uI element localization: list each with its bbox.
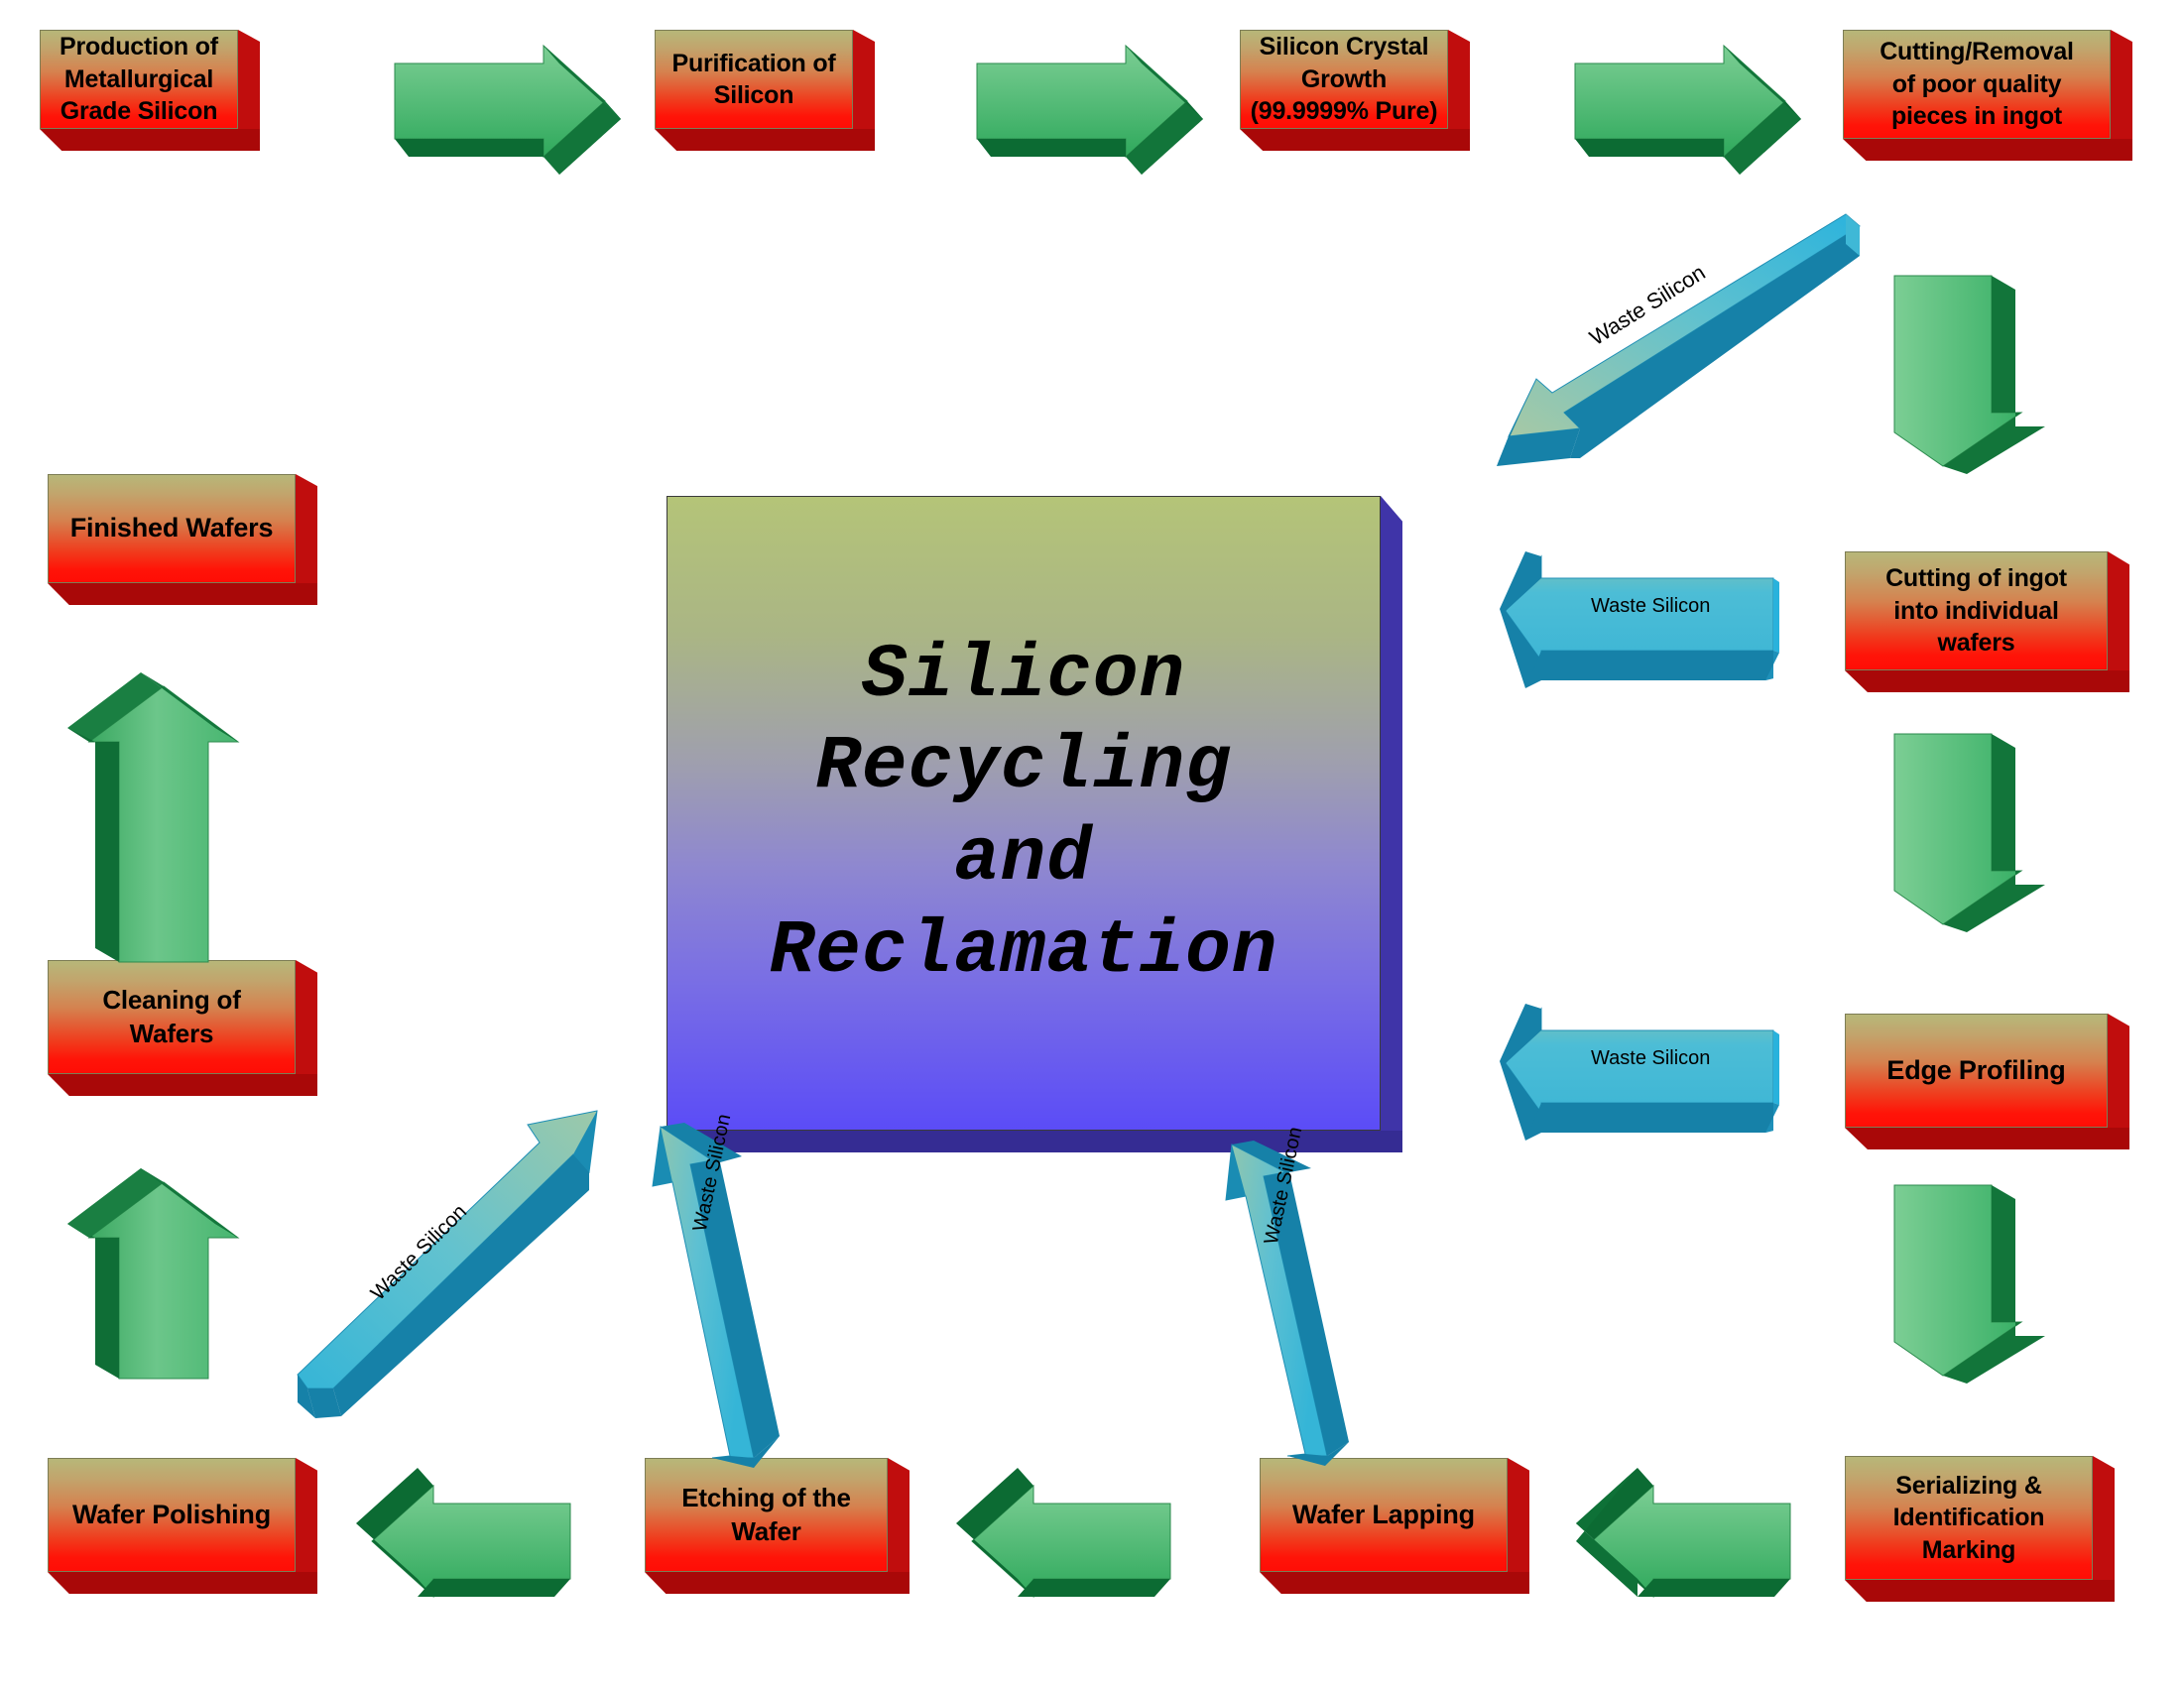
process-box-label: Purification of Silicon: [666, 48, 841, 112]
process-box-cleaning-of-wafers[interactable]: Cleaning of Wafers: [48, 960, 296, 1074]
box-side-face: [296, 474, 317, 583]
process-box-cutting-removal-poor-quality[interactable]: Cutting/Removal of poor quality pieces i…: [1843, 30, 2111, 139]
center-box-side-face: [1381, 496, 1402, 1131]
process-box-production-metallurgical-grade-silicon[interactable]: Production of Metallurgical Grade Silico…: [40, 30, 238, 129]
flow-arrow-edge-profiling-to-serializing: [1894, 1185, 2093, 1384]
waste-arrow-from-cutting-removal: Waste Silicon: [1453, 198, 1870, 536]
box-side-face: [1448, 30, 1470, 129]
waste-arrow-from-wafer-polishing: Waste Silicon: [298, 1091, 694, 1438]
box-side-face: [1508, 1458, 1529, 1572]
flowchart-canvas: Production of Metallurgical Grade Silico…: [0, 0, 2184, 1688]
flow-arrow-wafer-polishing-to-cleaning: [60, 1160, 268, 1379]
flow-arrow-cutting-removal-to-cutting-ingot: [1894, 276, 2093, 474]
process-box-label: Etching of the Wafer: [675, 1482, 857, 1549]
process-box-finished-wafers[interactable]: Finished Wafers: [48, 474, 296, 583]
process-box-purification-of-silicon[interactable]: Purification of Silicon: [655, 30, 853, 129]
box-side-face: [296, 1458, 317, 1572]
process-box-cutting-ingot-into-wafers[interactable]: Cutting of ingot into individual wafers: [1845, 551, 2108, 670]
box-bottom-face: [655, 129, 875, 151]
process-box-label: Finished Wafers: [64, 511, 280, 545]
process-box-label: Production of Metallurgical Grade Silico…: [54, 31, 224, 128]
process-box-label: Cutting/Removal of poor quality pieces i…: [1874, 36, 2080, 133]
flow-arrow-cutting-ingot-to-edge-profiling: [1894, 734, 2093, 932]
process-box-wafer-lapping[interactable]: Wafer Lapping: [1260, 1458, 1508, 1572]
process-box-label: Cutting of ingot into individual wafers: [1880, 562, 2073, 660]
box-side-face: [296, 960, 317, 1074]
process-box-serializing-identification-marking[interactable]: Serializing & Identification Marking: [1845, 1456, 2093, 1580]
box-front-face: Wafer Polishing: [48, 1458, 296, 1572]
process-box-label: Serializing & Identification Marking: [1887, 1470, 2051, 1567]
process-box-label: Wafer Lapping: [1286, 1498, 1481, 1532]
box-side-face: [2108, 551, 2129, 670]
center-title-line-3: and: [954, 813, 1093, 905]
flow-arrow-cleaning-to-finished-wafers: [60, 664, 268, 962]
box-side-face: [2093, 1456, 2115, 1580]
center-title-box: Silicon Recycling and Reclamation: [667, 496, 1381, 1131]
center-title-line-2: Recycling: [815, 721, 1231, 813]
center-title-line-1: Silicon: [862, 630, 1185, 722]
process-box-label: Silicon Crystal Growth (99.9999% Pure): [1245, 31, 1444, 128]
box-front-face: Silicon Crystal Growth (99.9999% Pure): [1240, 30, 1448, 129]
process-box-label: Cleaning of Wafers: [96, 984, 246, 1051]
process-box-label: Edge Profiling: [1881, 1053, 2071, 1088]
process-box-silicon-crystal-growth[interactable]: Silicon Crystal Growth (99.9999% Pure): [1240, 30, 1448, 129]
process-box-wafer-polishing[interactable]: Wafer Polishing: [48, 1458, 296, 1572]
box-front-face: Purification of Silicon: [655, 30, 853, 129]
box-front-face: Cutting/Removal of poor quality pieces i…: [1843, 30, 2111, 139]
box-side-face: [2108, 1014, 2129, 1128]
center-title-line-4: Reclamation: [770, 905, 1278, 998]
box-bottom-face: [1845, 1580, 2115, 1602]
process-box-edge-profiling[interactable]: Edge Profiling: [1845, 1014, 2108, 1128]
flow-arrow-wafer-lapping-to-etching: [952, 1468, 1190, 1627]
box-front-face: Wafer Lapping: [1260, 1458, 1508, 1572]
box-side-face: [238, 30, 260, 129]
box-bottom-face: [1260, 1572, 1529, 1594]
center-box-front-face: Silicon Recycling and Reclamation: [667, 496, 1381, 1131]
box-bottom-face: [1845, 1128, 2129, 1149]
box-bottom-face: [1843, 139, 2132, 161]
box-side-face: [2111, 30, 2132, 139]
process-box-label: Wafer Polishing: [66, 1498, 277, 1532]
box-front-face: Etching of the Wafer: [645, 1458, 888, 1572]
flow-arrow-production-to-purification: [395, 46, 633, 175]
box-bottom-face: [1845, 670, 2129, 692]
process-box-etching-of-the-wafer[interactable]: Etching of the Wafer: [645, 1458, 888, 1572]
box-bottom-face: [48, 1074, 317, 1096]
waste-arrow-from-wafer-lapping: Waste Silicon: [1208, 1139, 1446, 1466]
box-front-face: Production of Metallurgical Grade Silico…: [40, 30, 238, 129]
box-front-face: Finished Wafers: [48, 474, 296, 583]
flow-arrow-purification-to-growth: [977, 46, 1215, 175]
box-front-face: Cleaning of Wafers: [48, 960, 296, 1074]
box-front-face: Serializing & Identification Marking: [1845, 1456, 2093, 1580]
box-bottom-face: [645, 1572, 910, 1594]
box-side-face: [888, 1458, 910, 1572]
box-front-face: Cutting of ingot into individual wafers: [1845, 551, 2108, 670]
box-bottom-face: [48, 583, 317, 605]
box-bottom-face: [1240, 129, 1470, 151]
box-side-face: [853, 30, 875, 129]
waste-arrow-from-cutting-ingot: Waste Silicon: [1500, 551, 1817, 760]
flow-arrow-serializing-to-wafer-lapping: [1572, 1468, 1810, 1627]
box-bottom-face: [48, 1572, 317, 1594]
box-bottom-face: [40, 129, 260, 151]
flow-arrow-growth-to-cutting-removal: [1575, 46, 1813, 175]
waste-arrow-from-edge-profiling: Waste Silicon: [1500, 1004, 1817, 1212]
box-front-face: Edge Profiling: [1845, 1014, 2108, 1128]
flow-arrow-etching-to-wafer-polishing: [352, 1468, 590, 1627]
